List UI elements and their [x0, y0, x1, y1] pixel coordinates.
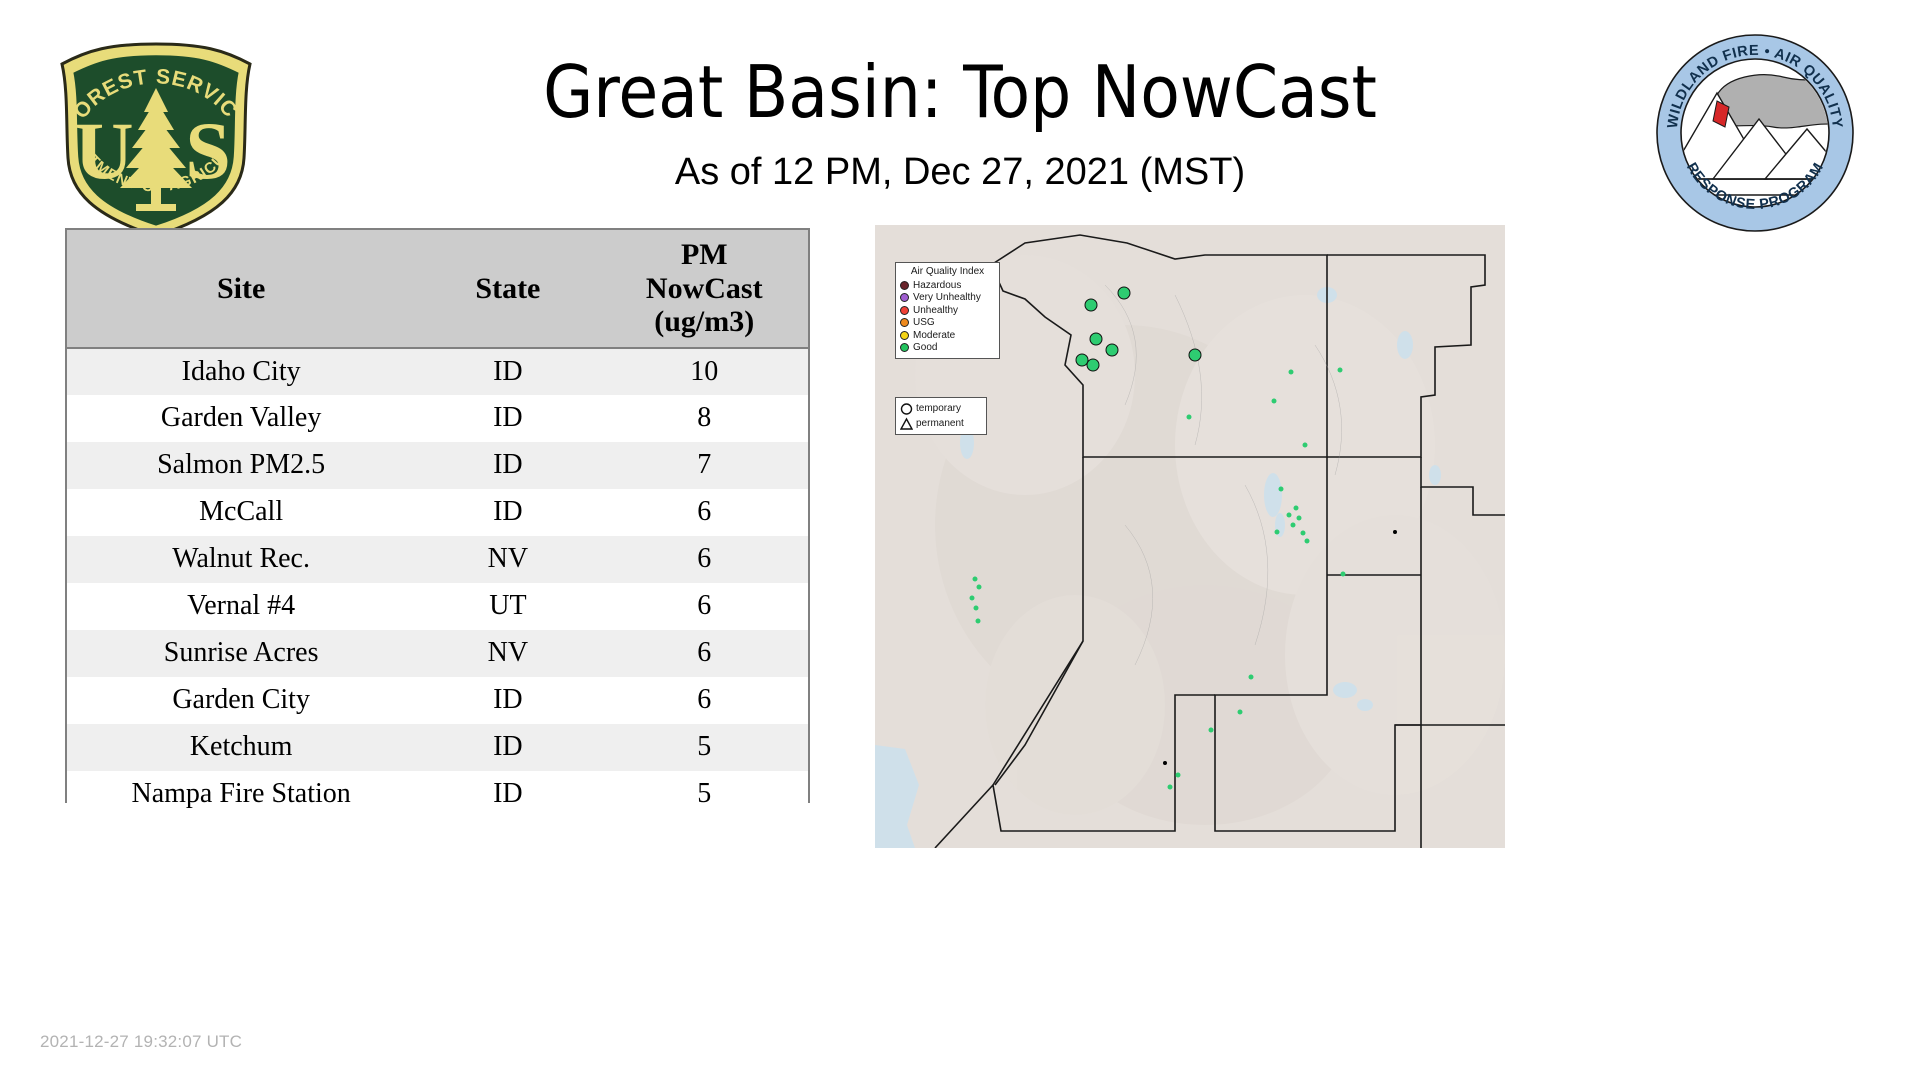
table-cell-state: ID	[415, 348, 600, 395]
table-cell-pm: 8	[601, 395, 808, 442]
table-cell-state: ID	[415, 677, 600, 724]
aqi-legend-title: Air Quality Index	[900, 266, 995, 277]
table-cell-site: Salmon PM2.5	[67, 442, 415, 489]
monitor-marker[interactable]	[1305, 539, 1310, 544]
triangle-marker-icon	[900, 417, 913, 431]
pm-header-line-3: (ug/m3)	[654, 305, 754, 338]
aqi-legend-label: Good	[913, 342, 937, 353]
monitor-marker[interactable]	[1168, 785, 1173, 790]
table-row: Sunrise AcresNV6	[67, 630, 808, 677]
aqi-legend-swatch-icon	[900, 281, 909, 290]
table-cell-pm: 6	[601, 536, 808, 583]
pm-header-line-2: NowCast	[646, 272, 763, 305]
aqi-legend-swatch-icon	[900, 331, 909, 340]
table-row: Garden CityID6	[67, 677, 808, 724]
aqi-legend-label: Moderate	[913, 330, 955, 341]
monitor-marker[interactable]	[970, 596, 975, 601]
symbol-legend-label-temporary: temporary	[916, 403, 961, 414]
monitor-marker[interactable]	[1238, 710, 1243, 715]
table-row: Nampa Fire StationID5	[67, 771, 808, 818]
table-cell-site: Walnut Rec.	[67, 536, 415, 583]
aqi-legend-rows: HazardousVery UnhealthyUnhealthyUSGModer…	[900, 279, 995, 354]
monitor-marker[interactable]	[1275, 530, 1280, 535]
forest-service-shield-icon: FOREST SERVICE U S DEPARTMENT OF AGRICUL…	[48, 30, 264, 240]
monitor-marker[interactable]	[1272, 399, 1277, 404]
monitor-marker[interactable]	[1294, 506, 1299, 511]
table-body: Idaho CityID10Garden ValleyID8Salmon PM2…	[67, 348, 808, 818]
table-cell-pm: 6	[601, 630, 808, 677]
column-header-pm-nowcast: PM NowCast (ug/m3)	[601, 230, 808, 348]
monitor-marker[interactable]	[1287, 513, 1292, 518]
monitor-marker[interactable]	[1393, 530, 1397, 534]
monitor-marker[interactable]	[1289, 370, 1294, 375]
wfaqrp-logo: WILDLAND FIRE • AIR QUALITY RESPONSE PRO…	[1655, 33, 1855, 233]
table-cell-pm: 5	[601, 771, 808, 818]
aqi-legend-swatch-icon	[900, 318, 909, 327]
table-row: Salmon PM2.5ID7	[67, 442, 808, 489]
table-cell-site: Ketchum	[67, 724, 415, 771]
table-cell-pm: 6	[601, 677, 808, 724]
monitor-marker[interactable]	[977, 585, 982, 590]
monitor-marker[interactable]	[976, 619, 981, 624]
table-cell-state: ID	[415, 442, 600, 489]
monitor-marker[interactable]	[1209, 728, 1214, 733]
monitor-marker[interactable]	[973, 577, 978, 582]
monitor-marker[interactable]	[1338, 368, 1343, 373]
table-cell-state: ID	[415, 724, 600, 771]
air-quality-map[interactable]: Air Quality Index HazardousVery Unhealth…	[875, 225, 1505, 848]
aqi-legend-item: Good	[900, 342, 995, 355]
table-cell-site: Idaho City	[67, 348, 415, 395]
table-header-row: Site State PM NowCast (ug/m3)	[67, 230, 808, 348]
table-cell-site: Garden City	[67, 677, 415, 724]
monitor-marker[interactable]	[1163, 761, 1167, 765]
monitor-marker[interactable]	[1301, 531, 1306, 536]
monitor-marker[interactable]	[1291, 523, 1296, 528]
column-header-site: Site	[67, 230, 415, 348]
monitor-marker[interactable]	[1187, 415, 1192, 420]
table-cell-state: NV	[415, 630, 600, 677]
table-row: Idaho CityID10	[67, 348, 808, 395]
symbol-legend-row-temporary: temporary	[900, 401, 982, 416]
aqi-legend-swatch-icon	[900, 293, 909, 302]
page-subtitle: As of 12 PM, Dec 27, 2021 (MST)	[300, 148, 1620, 196]
monitor-marker[interactable]	[1106, 344, 1119, 357]
circle-marker-icon	[900, 402, 913, 416]
table-cell-state: UT	[415, 583, 600, 630]
monitor-marker[interactable]	[974, 606, 979, 611]
page-title: Great Basin: Top NowCast	[300, 52, 1620, 132]
table-row: Walnut Rec.NV6	[67, 536, 808, 583]
monitor-marker[interactable]	[1341, 572, 1346, 577]
aqi-legend-swatch-icon	[900, 306, 909, 315]
aqi-legend-swatch-icon	[900, 343, 909, 352]
table-cell-pm: 7	[601, 442, 808, 489]
aqi-legend: Air Quality Index HazardousVery Unhealth…	[895, 262, 1000, 359]
table-row: KetchumID5	[67, 724, 808, 771]
table-row: Vernal #4UT6	[67, 583, 808, 630]
table-row: McCallID6	[67, 489, 808, 536]
aqi-legend-label: USG	[913, 317, 935, 328]
aqi-legend-item: Unhealthy	[900, 304, 995, 317]
column-header-state: State	[415, 230, 600, 348]
aqi-legend-label: Very Unhealthy	[913, 292, 981, 303]
monitor-marker[interactable]	[1297, 516, 1302, 521]
forest-service-logo: FOREST SERVICE U S DEPARTMENT OF AGRICUL…	[48, 30, 264, 240]
table-cell-state: ID	[415, 771, 600, 818]
wfaqrp-seal-icon: WILDLAND FIRE • AIR QUALITY RESPONSE PRO…	[1655, 33, 1855, 233]
monitor-marker[interactable]	[1279, 487, 1284, 492]
monitor-marker[interactable]	[1118, 287, 1131, 300]
monitor-marker[interactable]	[1303, 443, 1308, 448]
table-header: Site State PM NowCast (ug/m3)	[67, 230, 808, 348]
table-cell-site: Sunrise Acres	[67, 630, 415, 677]
pm-header-line-1: PM	[681, 238, 728, 271]
aqi-legend-item: Very Unhealthy	[900, 292, 995, 305]
table-cell-pm: 6	[601, 583, 808, 630]
table-cell-site: Nampa Fire Station	[67, 771, 415, 818]
nowcast-table-container: Site State PM NowCast (ug/m3) Idaho City…	[65, 228, 810, 803]
table-cell-state: NV	[415, 536, 600, 583]
table-cell-state: ID	[415, 489, 600, 536]
aqi-legend-label: Hazardous	[913, 280, 961, 291]
aqi-legend-item: Moderate	[900, 329, 995, 342]
monitor-marker[interactable]	[1249, 675, 1254, 680]
table-cell-pm: 5	[601, 724, 808, 771]
symbol-legend-row-permanent: permanent	[900, 416, 982, 431]
symbol-legend: temporary permanent	[895, 397, 987, 435]
table-cell-state: ID	[415, 395, 600, 442]
monitor-marker[interactable]	[1085, 299, 1098, 312]
table-cell-pm: 6	[601, 489, 808, 536]
nowcast-table: Site State PM NowCast (ug/m3) Idaho City…	[67, 230, 808, 818]
monitor-marker[interactable]	[1087, 359, 1100, 372]
aqi-legend-item: USG	[900, 317, 995, 330]
symbol-legend-label-permanent: permanent	[916, 418, 964, 429]
monitor-marker[interactable]	[1176, 773, 1181, 778]
table-cell-site: Garden Valley	[67, 395, 415, 442]
table-cell-site: Vernal #4	[67, 583, 415, 630]
monitor-marker[interactable]	[1090, 333, 1103, 346]
aqi-legend-label: Unhealthy	[913, 305, 958, 316]
table-row: Garden ValleyID8	[67, 395, 808, 442]
table-cell-site: McCall	[67, 489, 415, 536]
footer-timestamp: 2021-12-27 19:32:07 UTC	[40, 1032, 242, 1052]
aqi-legend-item: Hazardous	[900, 279, 995, 292]
table-cell-pm: 10	[601, 348, 808, 395]
monitor-marker[interactable]	[1189, 349, 1202, 362]
